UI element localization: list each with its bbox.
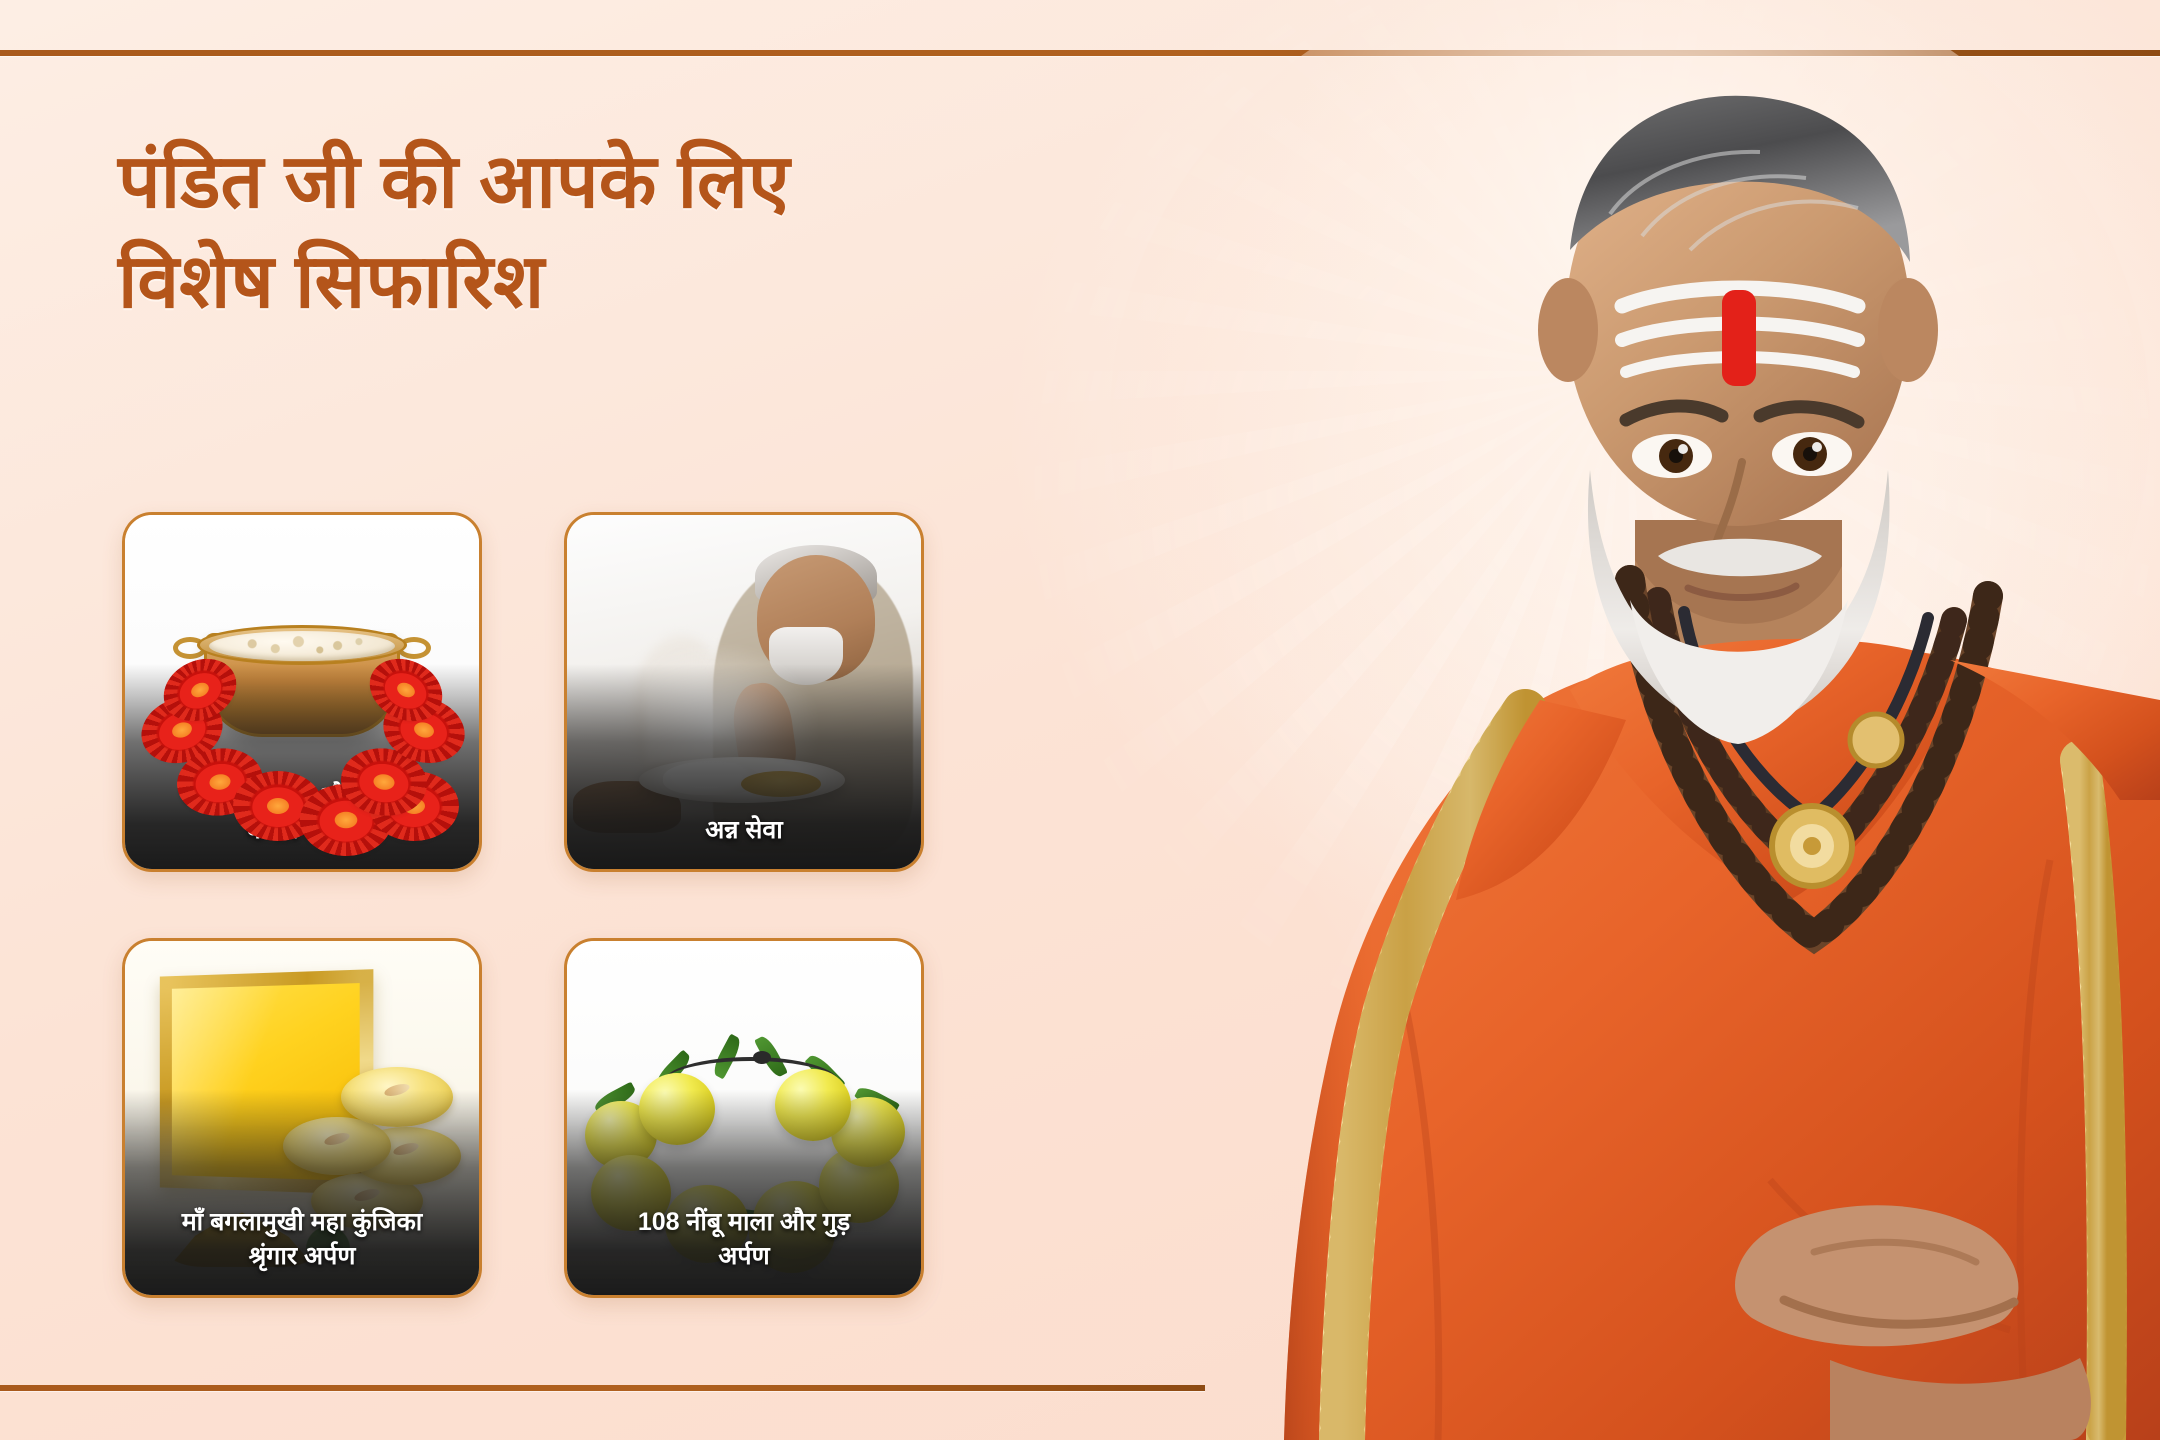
page-title: पंडित जी की आपके लिए विशेष सिफारिश <box>118 132 1198 332</box>
rudraksha-mala <box>1630 580 1988 936</box>
beard <box>1588 470 1890 736</box>
eyes <box>1632 432 1852 478</box>
card-caption-bagalamukhi-shringar: माँ बगलामुखी महा कुंजिका श्रृंगार अर्पण <box>125 1192 479 1295</box>
recommendation-card-lemon-mala[interactable]: 108 नींबू माला और गुड़ अर्पण <box>564 938 924 1298</box>
bottom-divider-rule <box>0 1385 1205 1391</box>
card-caption-line-1: माँ बगलामुखी महा कुंजिका <box>182 1208 423 1236</box>
promo-banner: पंडित जी की आपके लिए विशेष सिफारिश <box>0 0 2160 1440</box>
hair <box>1570 96 1910 262</box>
background-glow <box>1210 58 2160 1158</box>
top-divider-rule <box>0 50 2160 56</box>
recommendation-card-bagalamukhi-shringar[interactable]: माँ बगलामुखी महा कुंजिका श्रृंगार अर्पण <box>122 938 482 1298</box>
tilak <box>1622 288 1858 386</box>
face <box>1566 110 1910 526</box>
recommendation-card-anna-seva[interactable]: अन्न सेवा <box>564 512 924 872</box>
page-title-line-2: विशेष सिफारिश <box>118 232 1198 332</box>
gold-brocade-border <box>1342 712 1525 1440</box>
hands <box>1735 1205 2091 1440</box>
recommendation-card-grid: चावल की खीर और 9 लाल कमल अर्पण <box>122 512 942 1302</box>
recommendation-card-kheer-lotus[interactable]: चावल की खीर और 9 लाल कमल अर्पण <box>122 512 482 872</box>
card-caption-anna-seva: अन्न सेवा <box>567 800 921 870</box>
card-caption-lemon-mala: 108 नींबू माला और गुड़ अर्पण <box>567 1192 921 1295</box>
page-title-line-1: पंडित जी की आपके लिए <box>118 132 1198 232</box>
card-caption-line-2: अर्पण <box>718 1242 769 1270</box>
pandit-ji-figure <box>1070 0 2160 1440</box>
card-caption-line-2: श्रृंगार अर्पण <box>249 1242 356 1270</box>
saffron-robe <box>1284 648 2160 1440</box>
gold-pendant <box>1772 806 1852 886</box>
card-caption-line-1: 108 नींबू माला और गुड़ <box>638 1208 850 1236</box>
card-caption-line-1: अन्न सेवा <box>705 816 783 844</box>
